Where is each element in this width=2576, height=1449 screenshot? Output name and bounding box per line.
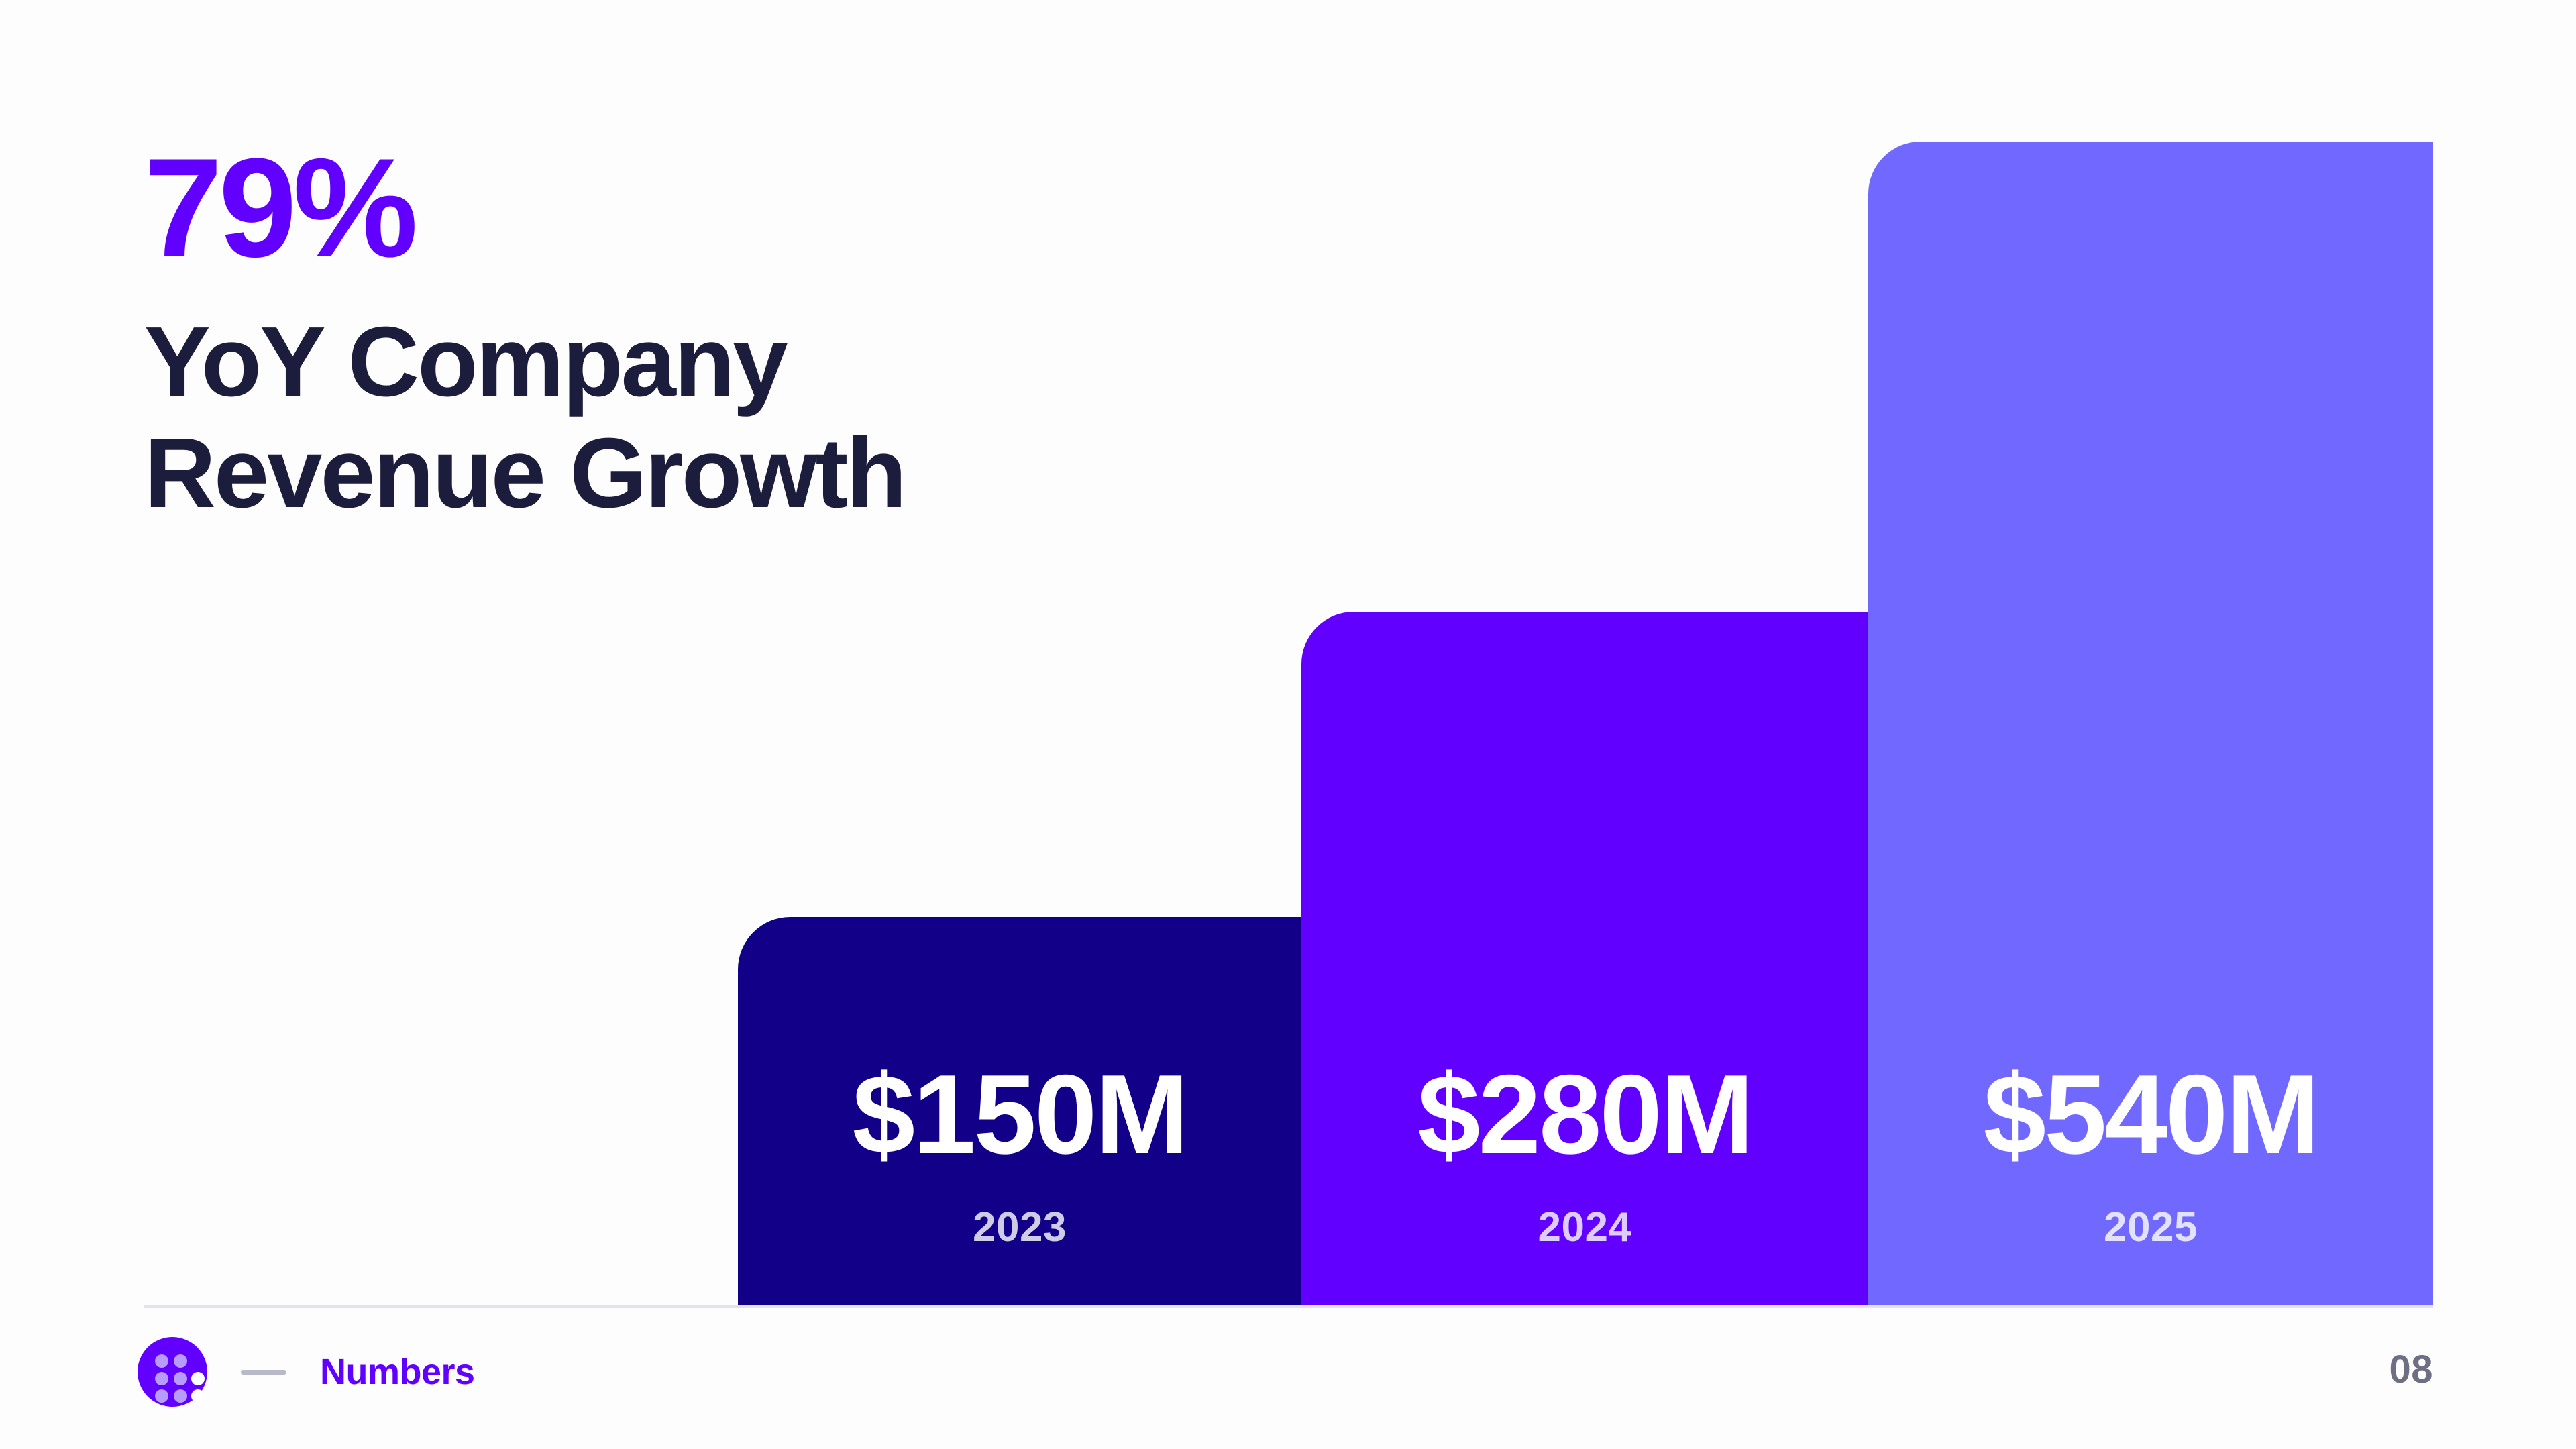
footer-brand[interactable]: Numbers: [138, 1337, 475, 1407]
page-number: 08: [2389, 1350, 2433, 1389]
footer-dash-divider: [241, 1370, 286, 1375]
bar-2025[interactable]: $540M 2025: [1868, 142, 2433, 1306]
page-title: YoY Company Revenue Growth: [144, 307, 905, 529]
headline-block: 79% YoY Company Revenue Growth: [144, 138, 905, 529]
footer-bar: Numbers 08: [0, 1332, 2576, 1426]
bar-year-label: 2023: [973, 1207, 1067, 1248]
bar-value-label: $540M: [1984, 1058, 2318, 1171]
bar-value-label: $280M: [1417, 1058, 1752, 1171]
bar-2024[interactable]: $280M 2024: [1301, 612, 1868, 1306]
bar-year-label: 2024: [1538, 1207, 1632, 1248]
dot-grid-icon: [138, 1337, 207, 1407]
bar-year-label: 2025: [2104, 1207, 2198, 1248]
footer-brand-label: Numbers: [320, 1354, 475, 1390]
bar-2023[interactable]: $150M 2023: [738, 917, 1301, 1306]
footer-divider: [144, 1305, 2433, 1308]
bar-value-label: $150M: [853, 1058, 1187, 1171]
slide-canvas: $150M 2023 $280M 2024 $540M 2025 79% YoY…: [0, 0, 2576, 1449]
stat-percent: 79%: [144, 138, 905, 278]
